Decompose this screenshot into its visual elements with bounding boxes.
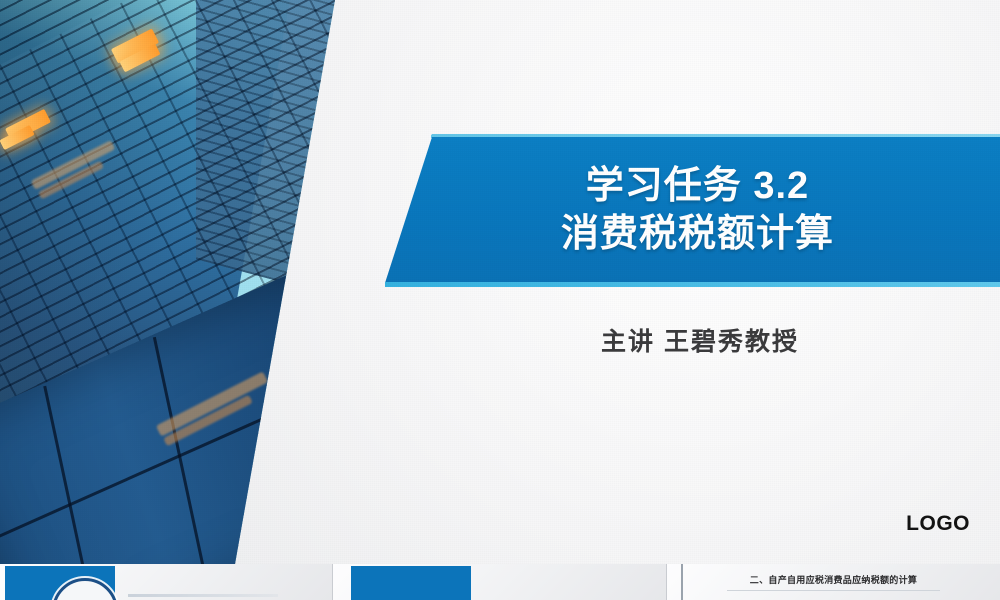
thumbnail-2-blue-block — [351, 566, 471, 600]
slide-thumbnail-strip: 二、自产自用应税消费品应纳税额的计算 — [0, 564, 1000, 600]
title-text-group: 学习任务 3.2 消费税税额计算 — [385, 137, 1000, 283]
title-banner: 学习任务 3.2 消费税税额计算 — [385, 137, 1000, 283]
slide-title-line-2: 消费税税额计算 — [561, 211, 834, 257]
slide-canvas: 学习任务 3.2 消费税税额计算 主讲 王碧秀教授 LOGO — [0, 0, 1000, 564]
skyscraper-photo-image — [0, 0, 420, 564]
slide-thumbnail-3[interactable]: 二、自产自用应税消费品应纳税额的计算 — [667, 564, 1000, 600]
logo-placeholder: LOGO — [906, 512, 970, 536]
slide-thumbnail-2[interactable] — [333, 564, 667, 600]
presenter-subtitle: 主讲 王碧秀教授 — [420, 322, 980, 358]
thumbnail-1-text-line — [128, 594, 278, 597]
thumbnail-3-title: 二、自产自用应税消费品应纳税额的计算 — [667, 573, 1000, 586]
thumbnail-3-underline — [727, 590, 940, 591]
background-photo — [0, 0, 420, 564]
slide-title-line-1: 学习任务 3.2 — [586, 163, 809, 209]
banner-bottom-highlight — [385, 282, 1000, 287]
slide-thumbnail-1[interactable] — [0, 564, 333, 600]
